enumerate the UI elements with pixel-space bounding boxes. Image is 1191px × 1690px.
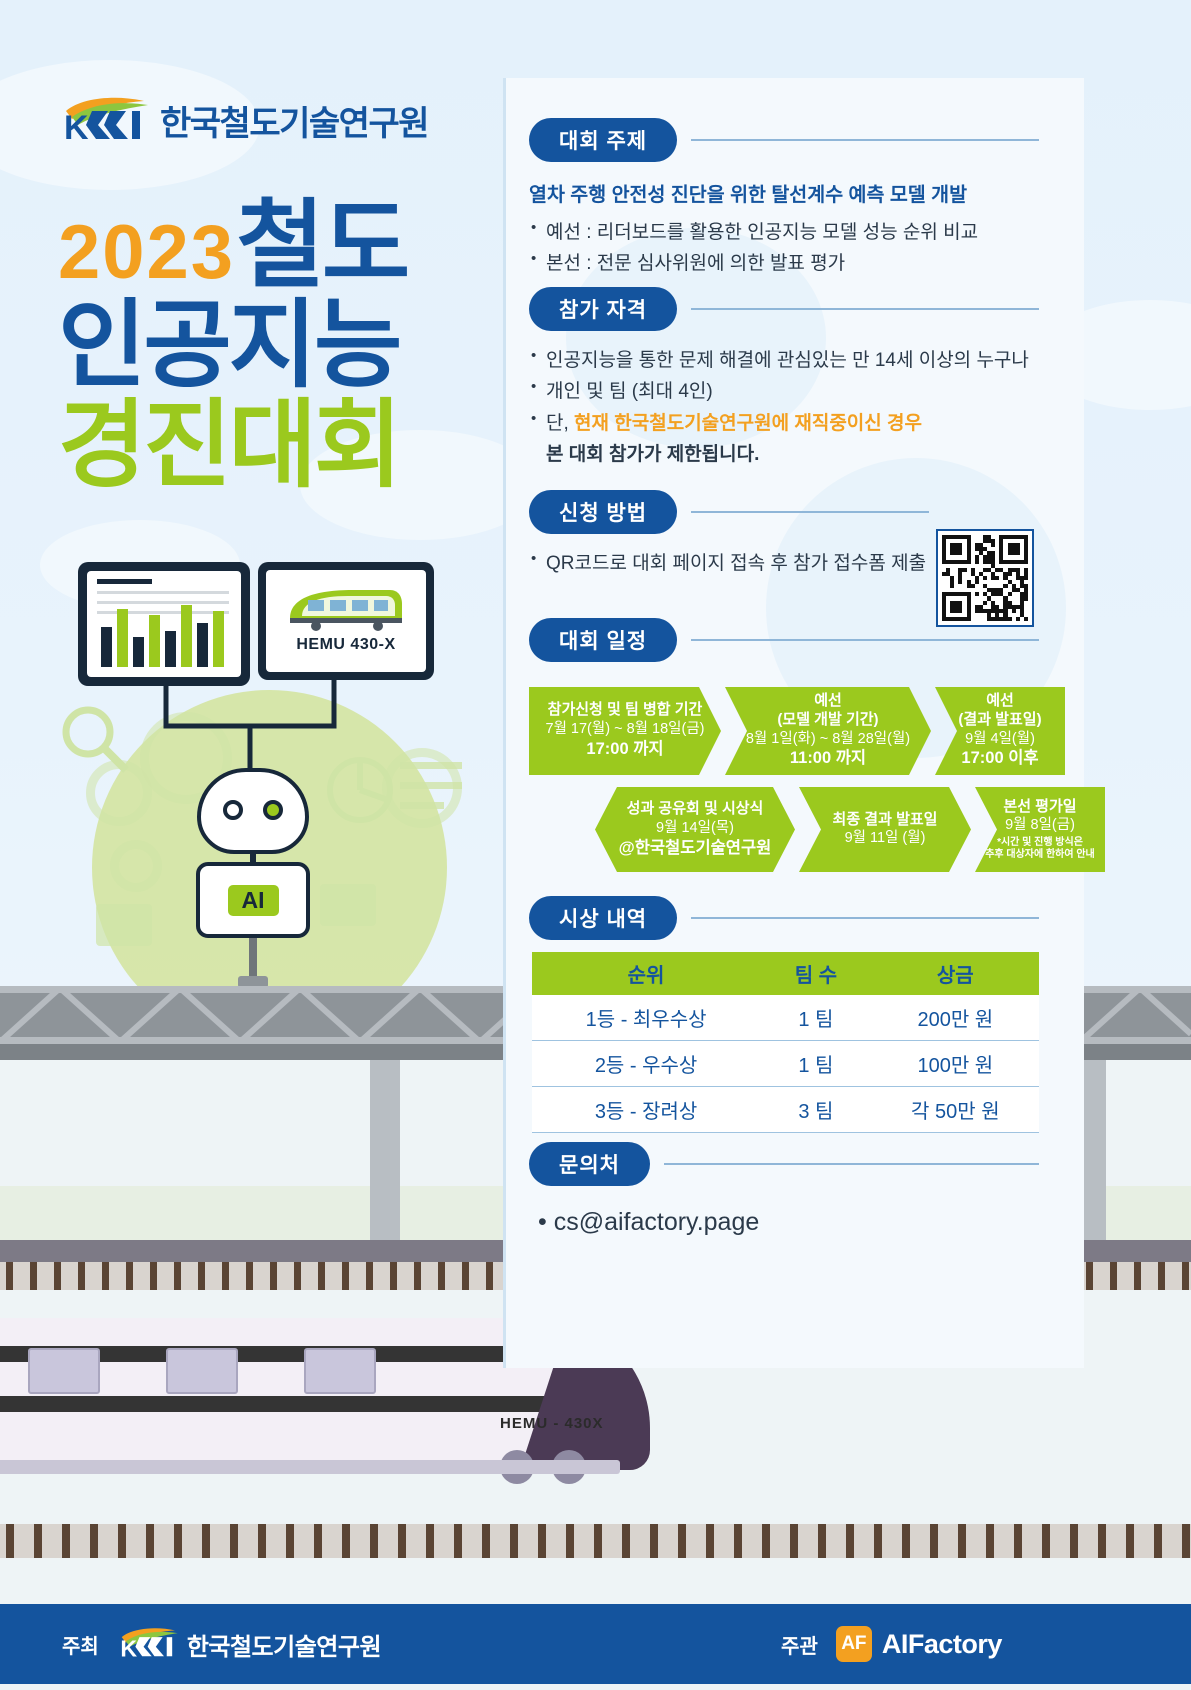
aifactory-logo-mark: AF <box>836 1626 872 1662</box>
folder-icon <box>96 904 152 946</box>
schedule-step: 최종 결과 발표일 9월 11일 (월) <box>799 787 971 872</box>
schedule-step-title: 본선 평가일 <box>1003 798 1076 817</box>
table-row: 1등 - 최우수상 1 팀 200만 원 <box>532 995 1039 1041</box>
schedule-step-time: 17:00 까지 <box>586 739 663 760</box>
section-rule <box>691 511 929 513</box>
section-schedule: 대회 일정 <box>529 618 1039 662</box>
chart-bar <box>213 611 224 667</box>
title-word-railway: 철도 <box>237 192 408 299</box>
title-line-1: 2023 철도 <box>58 196 407 296</box>
schedule-step: 본선 평가일 9월 8일(금) *시간 및 진행 방식은 추후 대상자에 한하여… <box>975 787 1105 872</box>
train-skirt <box>0 1460 620 1474</box>
chart-bar <box>133 637 144 667</box>
cell-rank: 2등 - 우수상 <box>532 1041 760 1086</box>
robot-stem <box>249 938 257 978</box>
section-contact: 문의처 <box>529 1142 1039 1186</box>
ai-chip-label: AI <box>228 885 279 916</box>
section-apply-items: QR코드로 대회 페이지 접속 후 참가 접수폼 제출 <box>529 548 929 579</box>
section-schedule-header: 대회 일정 <box>529 618 1039 662</box>
section-contact-header: 문의처 <box>529 1142 1039 1186</box>
list-item-restriction: 단, 현재 한국철도기술연구원에 재직중이신 경우 <box>529 408 1039 439</box>
schedule-step-title: 성과 공유회 및 시상식 <box>627 800 764 819</box>
schedule-step-date: 7월 17(월) ~ 8월 18일(금) <box>546 720 705 739</box>
gear-icon <box>110 840 162 892</box>
footer-org-label: 주관 <box>781 1630 818 1659</box>
footer-host-label: 주최 <box>62 1630 99 1659</box>
restriction-line-1: 현재 한국철도기술연구원에 재직중이신 경우 <box>574 413 922 434</box>
schedule-step-title: 최종 결과 발표일 <box>833 811 938 830</box>
section-topic: 대회 주제 열차 주행 안전성 진단을 위한 탈선계수 예측 모델 개발 예선 … <box>529 118 1039 280</box>
section-contact-pill: 문의처 <box>529 1142 650 1186</box>
title-line-3: 경진대회 <box>58 396 407 496</box>
contact-email[interactable]: • cs@aifactory.page <box>538 1208 759 1237</box>
qr-code-grid <box>942 535 1028 621</box>
robot-eye-left <box>223 800 243 820</box>
krri-logo-mark: K <box>62 97 150 145</box>
section-rule <box>691 917 1039 919</box>
chart-bar <box>197 623 208 667</box>
cell-amount: 각 50만 원 <box>872 1087 1039 1132</box>
robot-body: AI <box>196 862 310 938</box>
train-window <box>28 1348 100 1394</box>
title-line-2: 인공지능 <box>58 296 407 396</box>
schedule-step-title: 예선 (모델 개발 기간) <box>777 692 878 730</box>
cell-amount: 100만 원 <box>872 1041 1039 1086</box>
svg-text:K: K <box>64 109 89 145</box>
schedule-step-date: 9월 4일(월) <box>965 730 1035 749</box>
chart-bar <box>165 631 176 667</box>
robot-eye-right <box>263 800 283 820</box>
section-topic-pill: 대회 주제 <box>529 118 677 162</box>
section-eligibility: 참가 자격 인공지능을 통한 문제 해결에 관심있는 만 14세 이상의 누구나… <box>529 287 1039 470</box>
section-schedule-pill: 대회 일정 <box>529 618 677 662</box>
list-item: 개인 및 팀 (최대 4인) <box>529 376 1039 407</box>
schedule-step-date: 9월 14일(목) <box>656 819 734 838</box>
folder-icon <box>320 884 376 926</box>
schedule-step: 참가신청 및 팀 병합 기간 7월 17(월) ~ 8월 18일(금) 17:0… <box>529 687 721 775</box>
schedule-step: 예선 (모델 개발 기간) 8월 1일(화) ~ 8월 28일(월) 11:00… <box>725 687 931 775</box>
schedule-step-date: 9월 11일 (월) <box>845 829 926 848</box>
pie-chart-icon <box>326 756 398 828</box>
section-prize: 시상 내역 <box>529 896 1039 940</box>
lower-ties <box>0 1524 1191 1558</box>
chart-bar <box>181 605 192 667</box>
cell-amount: 200만 원 <box>872 995 1039 1040</box>
schedule-step-time: 17:00 이후 <box>961 748 1038 769</box>
schedule-step-title: 예선 (결과 발표일) <box>958 692 1041 730</box>
schedule-step-time: 11:00 까지 <box>790 748 866 769</box>
train-stripe <box>0 1396 580 1412</box>
section-rule <box>691 139 1039 141</box>
section-prize-pill: 시상 내역 <box>529 896 677 940</box>
table-row: 3등 - 장려상 3 팀 각 50만 원 <box>532 1087 1039 1133</box>
schedule-step: 성과 공유회 및 시상식 9월 14일(목) @한국철도기술연구원 <box>595 787 795 872</box>
schedule-row-1: 참가신청 및 팀 병합 기간 7월 17(월) ~ 8월 18일(금) 17:0… <box>529 687 1065 775</box>
section-apply-header: 신청 방법 <box>529 490 929 534</box>
list-item: QR코드로 대회 페이지 접속 후 참가 접수폼 제출 <box>529 548 929 579</box>
viaduct-pier <box>370 1060 400 1260</box>
footer-org-name: AIFactory <box>882 1629 1002 1660</box>
cell-teams: 1 팀 <box>760 995 872 1040</box>
section-topic-lead: 열차 주행 안전성 진단을 위한 탈선계수 예측 모델 개발 <box>529 178 1039 207</box>
footer-bar: 주최 K 한국철도기술연구원 주관 AF AIFactory <box>0 1604 1191 1684</box>
schedule-step-date: 8월 1일(화) ~ 8월 28일(월) <box>746 730 910 749</box>
prize-table-header: 순위 팀 수 상금 <box>532 952 1039 995</box>
chart-bar <box>117 609 128 667</box>
poster-title: 2023 철도 인공지능 경진대회 <box>58 196 407 495</box>
schedule-step: 예선 (결과 발표일) 9월 4일(월) 17:00 이후 <box>935 687 1065 775</box>
restriction-line-2: 본 대회 참가가 제한됩니다. <box>529 439 1039 470</box>
schedule-step-venue: @한국철도기술연구원 <box>619 838 772 859</box>
svg-text:K: K <box>120 1635 137 1661</box>
krri-logo: K 한국철도기술연구원 <box>62 96 428 145</box>
footer-host-name: 한국철도기술연구원 <box>187 1627 381 1662</box>
section-rule <box>664 1163 1039 1165</box>
train-photo-screen: HEMU 430-X <box>258 562 434 680</box>
deco-line <box>400 782 462 789</box>
krri-logo-name: 한국철도기술연구원 <box>160 96 428 145</box>
section-topic-items: 예선 : 리더보드를 활용한 인공지능 모델 성능 순위 비교 본선 : 전문 … <box>529 217 1039 280</box>
chart-bar <box>101 627 112 667</box>
list-item: 인공지능을 통한 문제 해결에 관심있는 만 14세 이상의 누구나 <box>529 345 1039 376</box>
restriction-prefix: 단, <box>546 413 574 434</box>
schedule-step-title: 참가신청 및 팀 병합 기간 <box>548 701 703 720</box>
cell-rank: 3등 - 장려상 <box>532 1087 760 1132</box>
deco-line <box>400 762 462 769</box>
title-year: 2023 <box>58 210 235 295</box>
cell-teams: 1 팀 <box>760 1041 872 1086</box>
column-header-rank: 순위 <box>532 952 760 995</box>
section-eligibility-items: 인공지능을 통한 문제 해결에 관심있는 만 14세 이상의 누구나 개인 및 … <box>529 345 1039 470</box>
train-screen-label: HEMU 430-X <box>296 636 395 654</box>
column-header-amount: 상금 <box>872 952 1039 995</box>
deco-line <box>400 802 444 809</box>
robot-head <box>197 768 309 854</box>
train-window <box>166 1348 238 1394</box>
chart-bar <box>149 615 160 667</box>
footer-krri-mark: K <box>119 1627 179 1661</box>
chart-screen-inner <box>87 571 241 677</box>
train-icon <box>286 588 406 632</box>
list-item: 예선 : 리더보드를 활용한 인공지능 모델 성능 순위 비교 <box>529 217 1039 248</box>
bar-chart-screen <box>78 562 250 686</box>
magnifier-icon <box>56 700 136 780</box>
section-rule <box>691 308 1039 310</box>
section-prize-header: 시상 내역 <box>529 896 1039 940</box>
cell-teams: 3 팀 <box>760 1087 872 1132</box>
train-screen-inner: HEMU 430-X <box>266 570 426 672</box>
section-eligibility-header: 참가 자격 <box>529 287 1039 331</box>
schedule-step-date: 9월 8일(금) <box>1005 816 1075 835</box>
schedule-row-2: 성과 공유회 및 시상식 9월 14일(목) @한국철도기술연구원 최종 결과 … <box>529 787 1105 872</box>
list-item: 본선 : 전문 심사위원에 의한 발표 평가 <box>529 248 1039 279</box>
prize-table: 순위 팀 수 상금 1등 - 최우수상 1 팀 200만 원 2등 - 우수상 … <box>532 952 1039 1133</box>
section-rule <box>691 639 1039 641</box>
section-apply-pill: 신청 방법 <box>529 490 677 534</box>
section-eligibility-pill: 참가 자격 <box>529 287 677 331</box>
section-topic-header: 대회 주제 <box>529 118 1039 162</box>
train-window <box>304 1348 376 1394</box>
train-side-label: HEMU - 430X <box>500 1415 604 1432</box>
qr-code[interactable] <box>936 529 1034 627</box>
schedule-step-note: *시간 및 진행 방식은 추후 대상자에 한하여 안내 <box>985 837 1095 861</box>
table-row: 2등 - 우수상 1 팀 100만 원 <box>532 1041 1039 1087</box>
section-apply: 신청 방법 QR코드로 대회 페이지 접속 후 참가 접수폼 제출 <box>529 490 929 579</box>
cell-rank: 1등 - 최우수상 <box>532 995 760 1040</box>
column-header-teams: 팀 수 <box>760 952 872 995</box>
